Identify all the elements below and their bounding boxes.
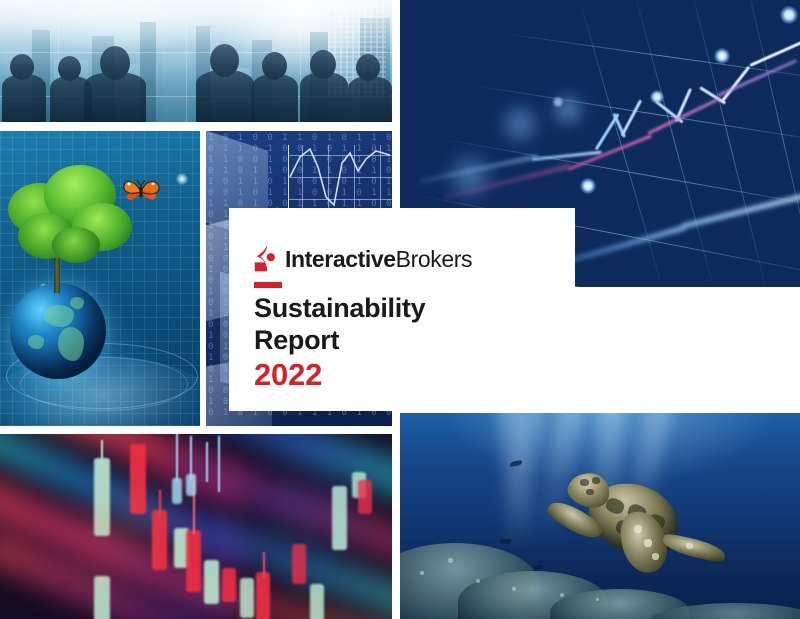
business-people-skyline-photo	[0, 0, 392, 122]
brand-name-bold: Interactive	[285, 246, 396, 272]
brand-name-regular: Brokers	[396, 246, 472, 272]
brand-wordmark: InteractiveBrokers	[285, 248, 472, 271]
brand-underline-rule	[254, 282, 282, 288]
interactive-brokers-man-mark-icon	[254, 244, 280, 275]
report-cover: 1 0 1 0 0 1 1 0 1 0 1 1 0 0 1 1 0 1 0 0 …	[0, 0, 800, 619]
candlestick-chart-blur-photo	[0, 434, 392, 619]
report-year: 2022	[254, 356, 425, 394]
report-title-line-2: Report	[254, 324, 425, 356]
tree-on-globe-photo	[0, 131, 200, 426]
sea-turtle-underwater-photo	[400, 413, 800, 619]
title-card: InteractiveBrokers Sustainability Report…	[229, 208, 575, 411]
butterfly-icon	[122, 175, 162, 209]
report-title-block: Sustainability Report 2022	[254, 292, 425, 394]
brand-lockup: InteractiveBrokers	[254, 244, 472, 275]
report-title-line-1: Sustainability	[254, 292, 425, 324]
